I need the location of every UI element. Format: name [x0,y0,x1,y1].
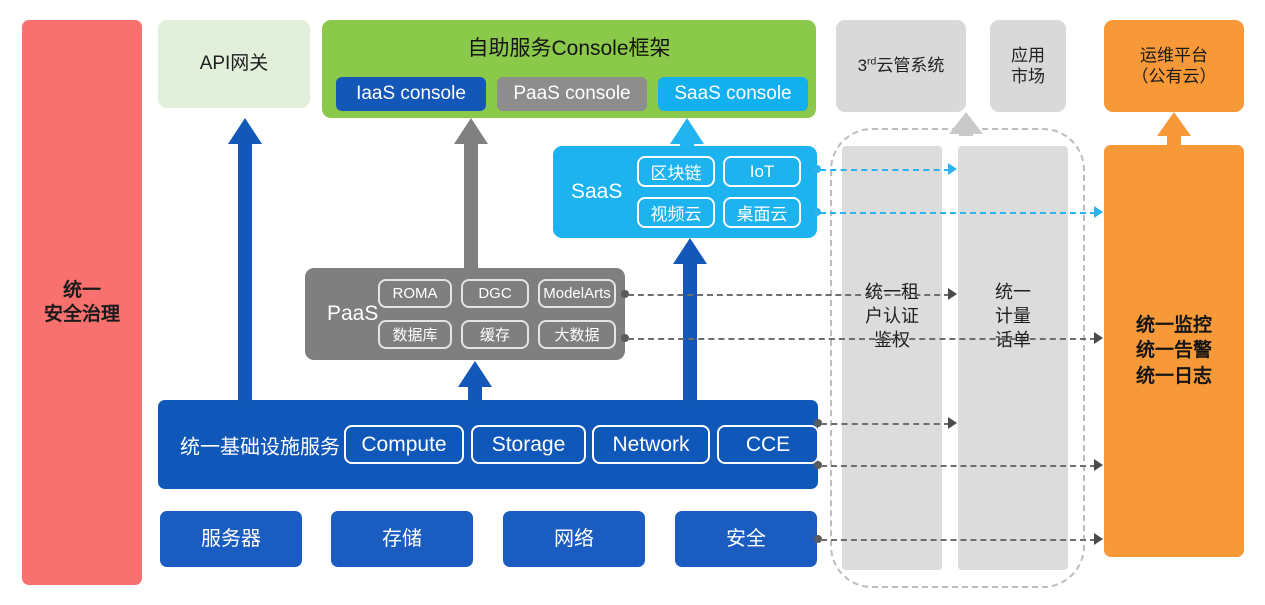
infra-chip-compute-label: Compute [361,433,446,457]
billing-line3: 话单 [958,329,1068,353]
hardware-security-label: 安全 [726,527,766,552]
paas-chip-bigdata[interactable]: 大数据 [538,320,616,349]
paas-chip-roma-label: ROMA [393,285,438,302]
saas-console-pill[interactable]: SaaS console [658,77,808,111]
infra-chip-cce-label: CCE [746,433,790,457]
saas-chip-video-cloud[interactable]: 视频云 [637,197,715,228]
saas-chip-blockchain-label: 区块链 [651,159,702,184]
security-label-line2: 安全治理 [44,303,120,327]
dashed-saas-to-metering [820,169,950,171]
third-party-label: 3rd云管系统 [858,55,945,76]
arrowhead-paas-to-ops [1094,332,1103,344]
dashed-hardware-to-ops [821,539,1096,541]
dashed-saas-to-ops [820,212,1096,214]
paas-chip-database-label: 数据库 [392,324,437,345]
security-label-line1: 统一 [63,279,101,303]
auth-line2: 户认证 [842,305,942,329]
infra-chip-cce[interactable]: CCE [717,425,819,464]
unified-tenant-auth-column [842,146,942,570]
saas-label: SaaS [571,180,622,204]
arrow-infra-to-saas [671,238,709,401]
iaas-console-label: IaaS console [356,82,466,106]
third-party-cloud-mgmt-box[interactable]: 3rd云管系统 [836,20,966,112]
architecture-diagram: 统一 安全治理 API网关 自助服务Console框架 IaaS console… [0,0,1265,605]
hardware-storage-label: 存储 [382,527,422,552]
paas-chip-dgc-label: DGC [478,285,511,302]
paas-chip-modelarts[interactable]: ModelArts [538,279,616,308]
arrow-to-third-party-cloud [947,112,985,136]
arrow-infra-to-api-gateway [226,118,264,401]
arrowhead-infra-to-ops [1094,459,1103,471]
console-framework-panel: 自助服务Console框架 IaaS console PaaS console … [322,20,816,118]
dashed-paas-to-auth [628,294,950,296]
app-market-line1: 应用 [1011,45,1045,66]
paas-console-label: PaaS console [513,82,630,106]
billing-line1: 统一 [958,281,1068,305]
arrow-paas-to-console [452,118,490,268]
hardware-block-network[interactable]: 网络 [503,511,645,567]
saas-console-label: SaaS console [674,82,791,106]
arrowhead-paas-to-auth [948,288,957,300]
unified-metering-column [958,146,1068,570]
auth-line3: 鉴权 [842,329,942,353]
hardware-block-security[interactable]: 安全 [675,511,817,567]
ops-platform-line1: 运维平台 [1140,45,1208,66]
paas-chip-database[interactable]: 数据库 [378,320,452,349]
paas-chip-cache[interactable]: 缓存 [461,320,529,349]
unified-security-governance-column: 统一 安全治理 [22,20,142,585]
paas-console-pill[interactable]: PaaS console [497,77,647,111]
saas-chip-desktop-cloud[interactable]: 桌面云 [723,197,801,228]
arrowhead-saas-to-ops [1094,206,1103,218]
infra-chip-storage-label: Storage [492,433,566,457]
saas-chip-video-cloud-label: 视频云 [651,200,702,225]
auth-line1: 统一租 [842,281,942,305]
paas-chip-dgc[interactable]: DGC [461,279,529,308]
api-gateway-label: API网关 [200,52,269,76]
hardware-block-server[interactable]: 服务器 [160,511,302,567]
unified-infrastructure-bar: 统一基础设施服务 Compute Storage Network CCE [158,400,818,489]
ops-column-line3: 统一日志 [1136,364,1212,390]
infra-chip-network-label: Network [612,433,689,457]
ops-platform-line2: （公有云） [1132,66,1217,87]
saas-panel: SaaS 区块链 IoT 视频云 桌面云 [553,146,817,238]
hardware-server-label: 服务器 [201,527,261,552]
paas-chip-modelarts-label: ModelArts [543,285,611,302]
app-market-box[interactable]: 应用 市场 [990,20,1066,112]
console-framework-title: 自助服务Console框架 [322,36,816,62]
arrowhead-hardware-to-ops [1094,533,1103,545]
infra-chip-storage[interactable]: Storage [471,425,586,464]
ops-column-line2: 统一告警 [1136,338,1212,364]
infrastructure-label: 统一基础设施服务 [180,430,340,459]
hardware-block-storage[interactable]: 存储 [331,511,473,567]
arrow-saas-to-console [668,118,706,148]
paas-label: PaaS [327,302,378,326]
billing-line2: 计量 [958,305,1068,329]
paas-chip-roma[interactable]: ROMA [378,279,452,308]
unified-metering-label: 统一 计量 话单 [958,281,1068,352]
arrowhead-saas-to-metering [948,163,957,175]
dashed-paas-to-ops [628,338,1096,340]
saas-chip-desktop-cloud-label: 桌面云 [737,200,788,225]
arrowhead-infra-to-auth [948,417,957,429]
dashed-infra-to-ops [821,465,1096,467]
paas-panel: PaaS ROMA DGC ModelArts 数据库 缓存 大数据 [305,268,625,360]
ops-column-line1: 统一监控 [1136,313,1212,339]
iaas-console-pill[interactable]: IaaS console [336,77,486,111]
arrow-infra-to-paas [456,361,494,401]
arrow-ops-column-to-platform [1155,112,1193,146]
unified-tenant-auth-label: 统一租 户认证 鉴权 [842,281,942,352]
unified-ops-column: 统一监控 统一告警 统一日志 [1104,145,1244,557]
api-gateway-box[interactable]: API网关 [158,20,310,108]
dashed-infra-to-auth [821,423,950,425]
infra-chip-network[interactable]: Network [592,425,710,464]
infra-chip-compute[interactable]: Compute [344,425,464,464]
hardware-network-label: 网络 [554,527,594,552]
paas-chip-bigdata-label: 大数据 [554,324,599,345]
paas-chip-cache-label: 缓存 [480,324,510,345]
saas-chip-blockchain[interactable]: 区块链 [637,156,715,187]
saas-chip-iot[interactable]: IoT [723,156,801,187]
ops-platform-box[interactable]: 运维平台 （公有云） [1104,20,1244,112]
app-market-line2: 市场 [1011,66,1045,87]
saas-chip-iot-label: IoT [750,162,775,182]
